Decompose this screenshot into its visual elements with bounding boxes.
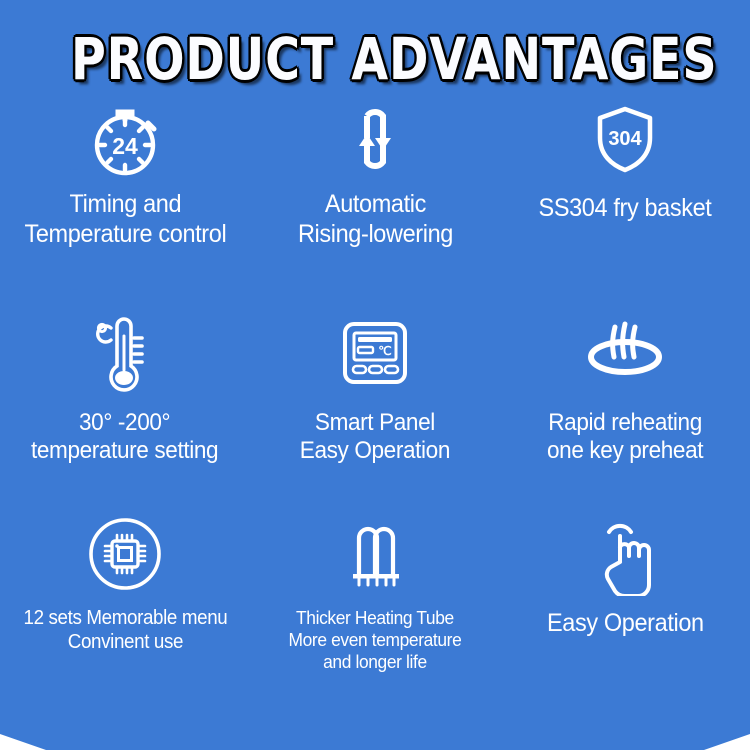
shield-icon-label: 304 — [608, 128, 642, 150]
shield-304-icon: 304 — [590, 96, 660, 182]
bottom-left-corner-wedge — [0, 734, 46, 750]
feature-caption: Thicker Heating Tube More even temperatu… — [289, 607, 462, 672]
product-advantages-poster: PRODUCT ADVANTAGES — [0, 0, 750, 750]
heat-steam-icon — [577, 309, 673, 401]
thermometer-celsius-icon — [87, 309, 163, 401]
stopwatch-icon-label: 24 — [112, 133, 138, 159]
feature-card-rapid-reheating: Rapid reheating one key preheat — [500, 309, 750, 510]
feature-card-smart-panel: ℃ Smart Panel Easy Operation — [250, 309, 500, 510]
features-grid: 24 Timing and Temperature control — [0, 96, 750, 716]
feature-caption: 30° -200° temperature setting — [31, 409, 218, 466]
stopwatch-24-icon: 24 — [86, 96, 164, 182]
heating-tube-icon — [337, 509, 413, 599]
page-title: PRODUCT ADVANTAGES — [71, 30, 717, 88]
bottom-right-corner-wedge — [704, 734, 750, 750]
feature-caption: 12 sets Memorable menu Convinent use — [23, 607, 227, 654]
microchip-circle-icon — [84, 509, 166, 599]
feature-caption: Timing and Temperature control — [24, 190, 226, 249]
control-panel-icon: ℃ — [332, 309, 418, 401]
up-down-arrows-icon — [343, 96, 407, 182]
feature-card-automatic-rising-lowering: Automatic Rising-lowering — [250, 96, 500, 303]
feature-card-memorable-menu: 12 sets Memorable menu Convinent use — [0, 509, 250, 716]
feature-card-heating-tube: Thicker Heating Tube More even temperatu… — [250, 509, 500, 716]
feature-card-timing-temperature-control: 24 Timing and Temperature control — [0, 96, 250, 303]
title-container: PRODUCT ADVANTAGES — [0, 30, 750, 88]
hand-tap-icon — [587, 509, 663, 599]
feature-caption: Easy Operation — [547, 609, 704, 639]
feature-caption: Rapid reheating one key preheat — [547, 409, 703, 466]
feature-caption: Automatic Rising-lowering — [297, 190, 452, 249]
panel-icon-label: ℃ — [378, 344, 391, 358]
feature-caption: Smart Panel Easy Operation — [300, 409, 450, 466]
feature-card-ss304-fry-basket: 304 SS304 fry basket — [500, 96, 750, 303]
feature-card-easy-operation: Easy Operation — [500, 509, 750, 716]
feature-caption: SS304 fry basket — [539, 194, 712, 224]
feature-card-temperature-setting: 30° -200° temperature setting — [0, 309, 250, 510]
